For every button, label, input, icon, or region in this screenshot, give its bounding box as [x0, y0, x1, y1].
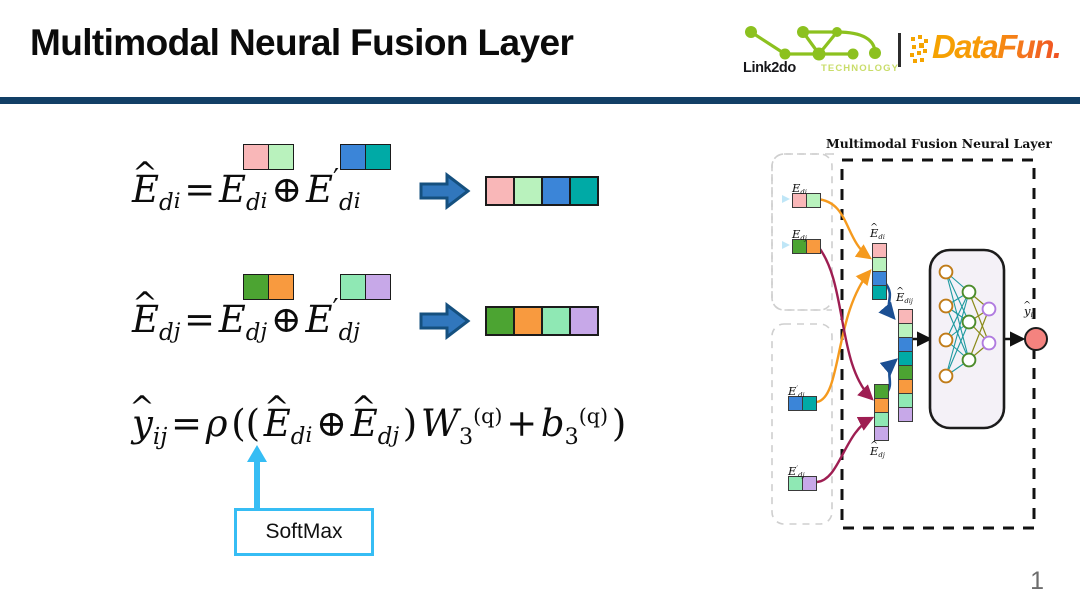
softmax-label: SoftMax: [265, 520, 342, 544]
diagram-label-E-prime-dj: E′dj: [788, 464, 805, 478]
datafun-logo: DataFun.: [910, 26, 1062, 74]
softmax-callout[interactable]: SoftMax: [234, 508, 374, 556]
eq3-t1-sub: d: [291, 424, 306, 450]
eq2-term1-sub: d: [246, 320, 261, 346]
equation-1: ^Edi=Edi⊕E′di: [132, 168, 361, 211]
input-pointer-icons: [782, 195, 790, 249]
eq1-chip-left: [243, 144, 294, 170]
eq2-lhs-subsub: j: [174, 319, 181, 344]
eq3-plus: +: [503, 402, 541, 445]
eq3-t2-subsub: j: [392, 423, 399, 448]
eq2-term2: E: [306, 298, 333, 341]
fusion-architecture-diagram: Multimodal Fusion Neural Layer Edi Edj E…: [770, 132, 1070, 550]
eq1-chip-right: [340, 144, 391, 170]
eq2-chip-left: [243, 274, 294, 300]
eq1-term1-subsub: i: [261, 189, 268, 214]
eq2-result-vector: [485, 306, 599, 336]
eq1-equals: =: [181, 168, 219, 211]
eq3-oplus: ⊕: [312, 402, 350, 445]
eq1-result-vector: [485, 176, 599, 206]
eq3-open-parens: ((: [228, 402, 264, 445]
eq3-b-sub: 3: [565, 424, 579, 450]
link2do-logo: Link2do TECHNOLOGY: [741, 24, 889, 76]
eq3-W-sub: 3: [459, 424, 473, 450]
eq2-term1: E: [219, 298, 246, 341]
logo-separator: [898, 33, 901, 67]
diagram-label-concat: ^Edij: [896, 290, 913, 304]
eq2-term2-sub: d: [339, 320, 354, 346]
eq3-W-sup: (q): [473, 404, 502, 428]
eq1-oplus: ⊕: [268, 168, 306, 211]
eq3-lhs-sub: ij: [153, 424, 167, 450]
eq1-block-arrow-right: [419, 172, 471, 215]
eq3-W: W: [421, 402, 459, 445]
diagram-panel-title: Multimodal Fusion Neural Layer: [826, 136, 1052, 151]
eq1-term1: E: [219, 168, 246, 211]
eq3-lhs-hat: ^: [129, 393, 154, 423]
eq1-term2: E: [306, 168, 333, 211]
eq1-lhs-subsub: i: [174, 189, 181, 214]
eq2-term1-subsub: j: [260, 319, 267, 344]
eq2-equals: =: [180, 298, 218, 341]
eq3-equals: =: [167, 402, 205, 445]
diagram-label-fused-i: ^Edi: [870, 226, 885, 240]
eq2-block-arrow-right: [419, 302, 471, 345]
eq2-chip-right: [340, 274, 391, 300]
diagram-label-output: ^yij: [1024, 304, 1035, 318]
eq3-close-parens-1: ): [399, 402, 421, 445]
datafun-wordmark: DataFun.: [932, 28, 1060, 66]
diagram-label-fused-j: ^Edj: [870, 444, 885, 458]
equation-3: ^yij=ρ((^Edi⊕^Edj)W3(q)+b3(q)): [132, 402, 630, 445]
title-divider: [0, 97, 1080, 104]
eq3-close-parens-2: ): [608, 402, 630, 445]
eq3-t2-hat: ^: [351, 393, 376, 423]
logo-area: Link2do TECHNOLOGY DataFun.: [741, 24, 1062, 76]
equation-2: ^Edj=Edj⊕E′dj: [132, 298, 360, 341]
eq3-b: b: [541, 402, 565, 445]
eq2-oplus: ⊕: [267, 298, 305, 341]
eq2-lhs-sub: d: [159, 320, 174, 346]
eq3-t2-sub: d: [378, 424, 393, 450]
diagram-concat-vector: [898, 309, 913, 422]
concat-connectors: [886, 284, 896, 394]
link2do-wordmark: Link2do: [743, 60, 796, 76]
eq3-t1-hat: ^: [264, 393, 289, 423]
eq3-t1-subsub: i: [305, 423, 312, 448]
diagram-label-E-di: Edi: [792, 181, 807, 195]
eq1-term2-sub: d: [339, 190, 354, 216]
eq1-lhs-sub: d: [159, 190, 174, 216]
output-node: [1025, 328, 1047, 350]
diagram-label-E-dj: Edj: [792, 227, 807, 241]
eq3-b-sup: (q): [579, 404, 608, 428]
eq2-lhs-hat: ^: [132, 289, 157, 319]
diagram-label-E-prime-di: E′di: [788, 384, 805, 398]
page-title: Multimodal Neural Fusion Layer: [30, 22, 573, 64]
pixel-dots-icon: [910, 35, 932, 70]
diagram-fused-vector-i: [872, 243, 887, 300]
eq1-term1-sub: d: [246, 190, 261, 216]
diagram-fused-vector-j: [874, 384, 889, 441]
eq2-term2-subsub: j: [353, 319, 360, 344]
eq2-term2-prime: ′: [333, 294, 339, 325]
mlp-box: [930, 250, 1004, 428]
eq1-lhs-hat: ^: [132, 159, 157, 189]
eq3-rho: ρ: [206, 402, 228, 445]
eq1-term2-subsub: i: [354, 189, 361, 214]
link2do-tagline: TECHNOLOGY: [821, 63, 899, 74]
page-number: 1: [1030, 567, 1044, 596]
